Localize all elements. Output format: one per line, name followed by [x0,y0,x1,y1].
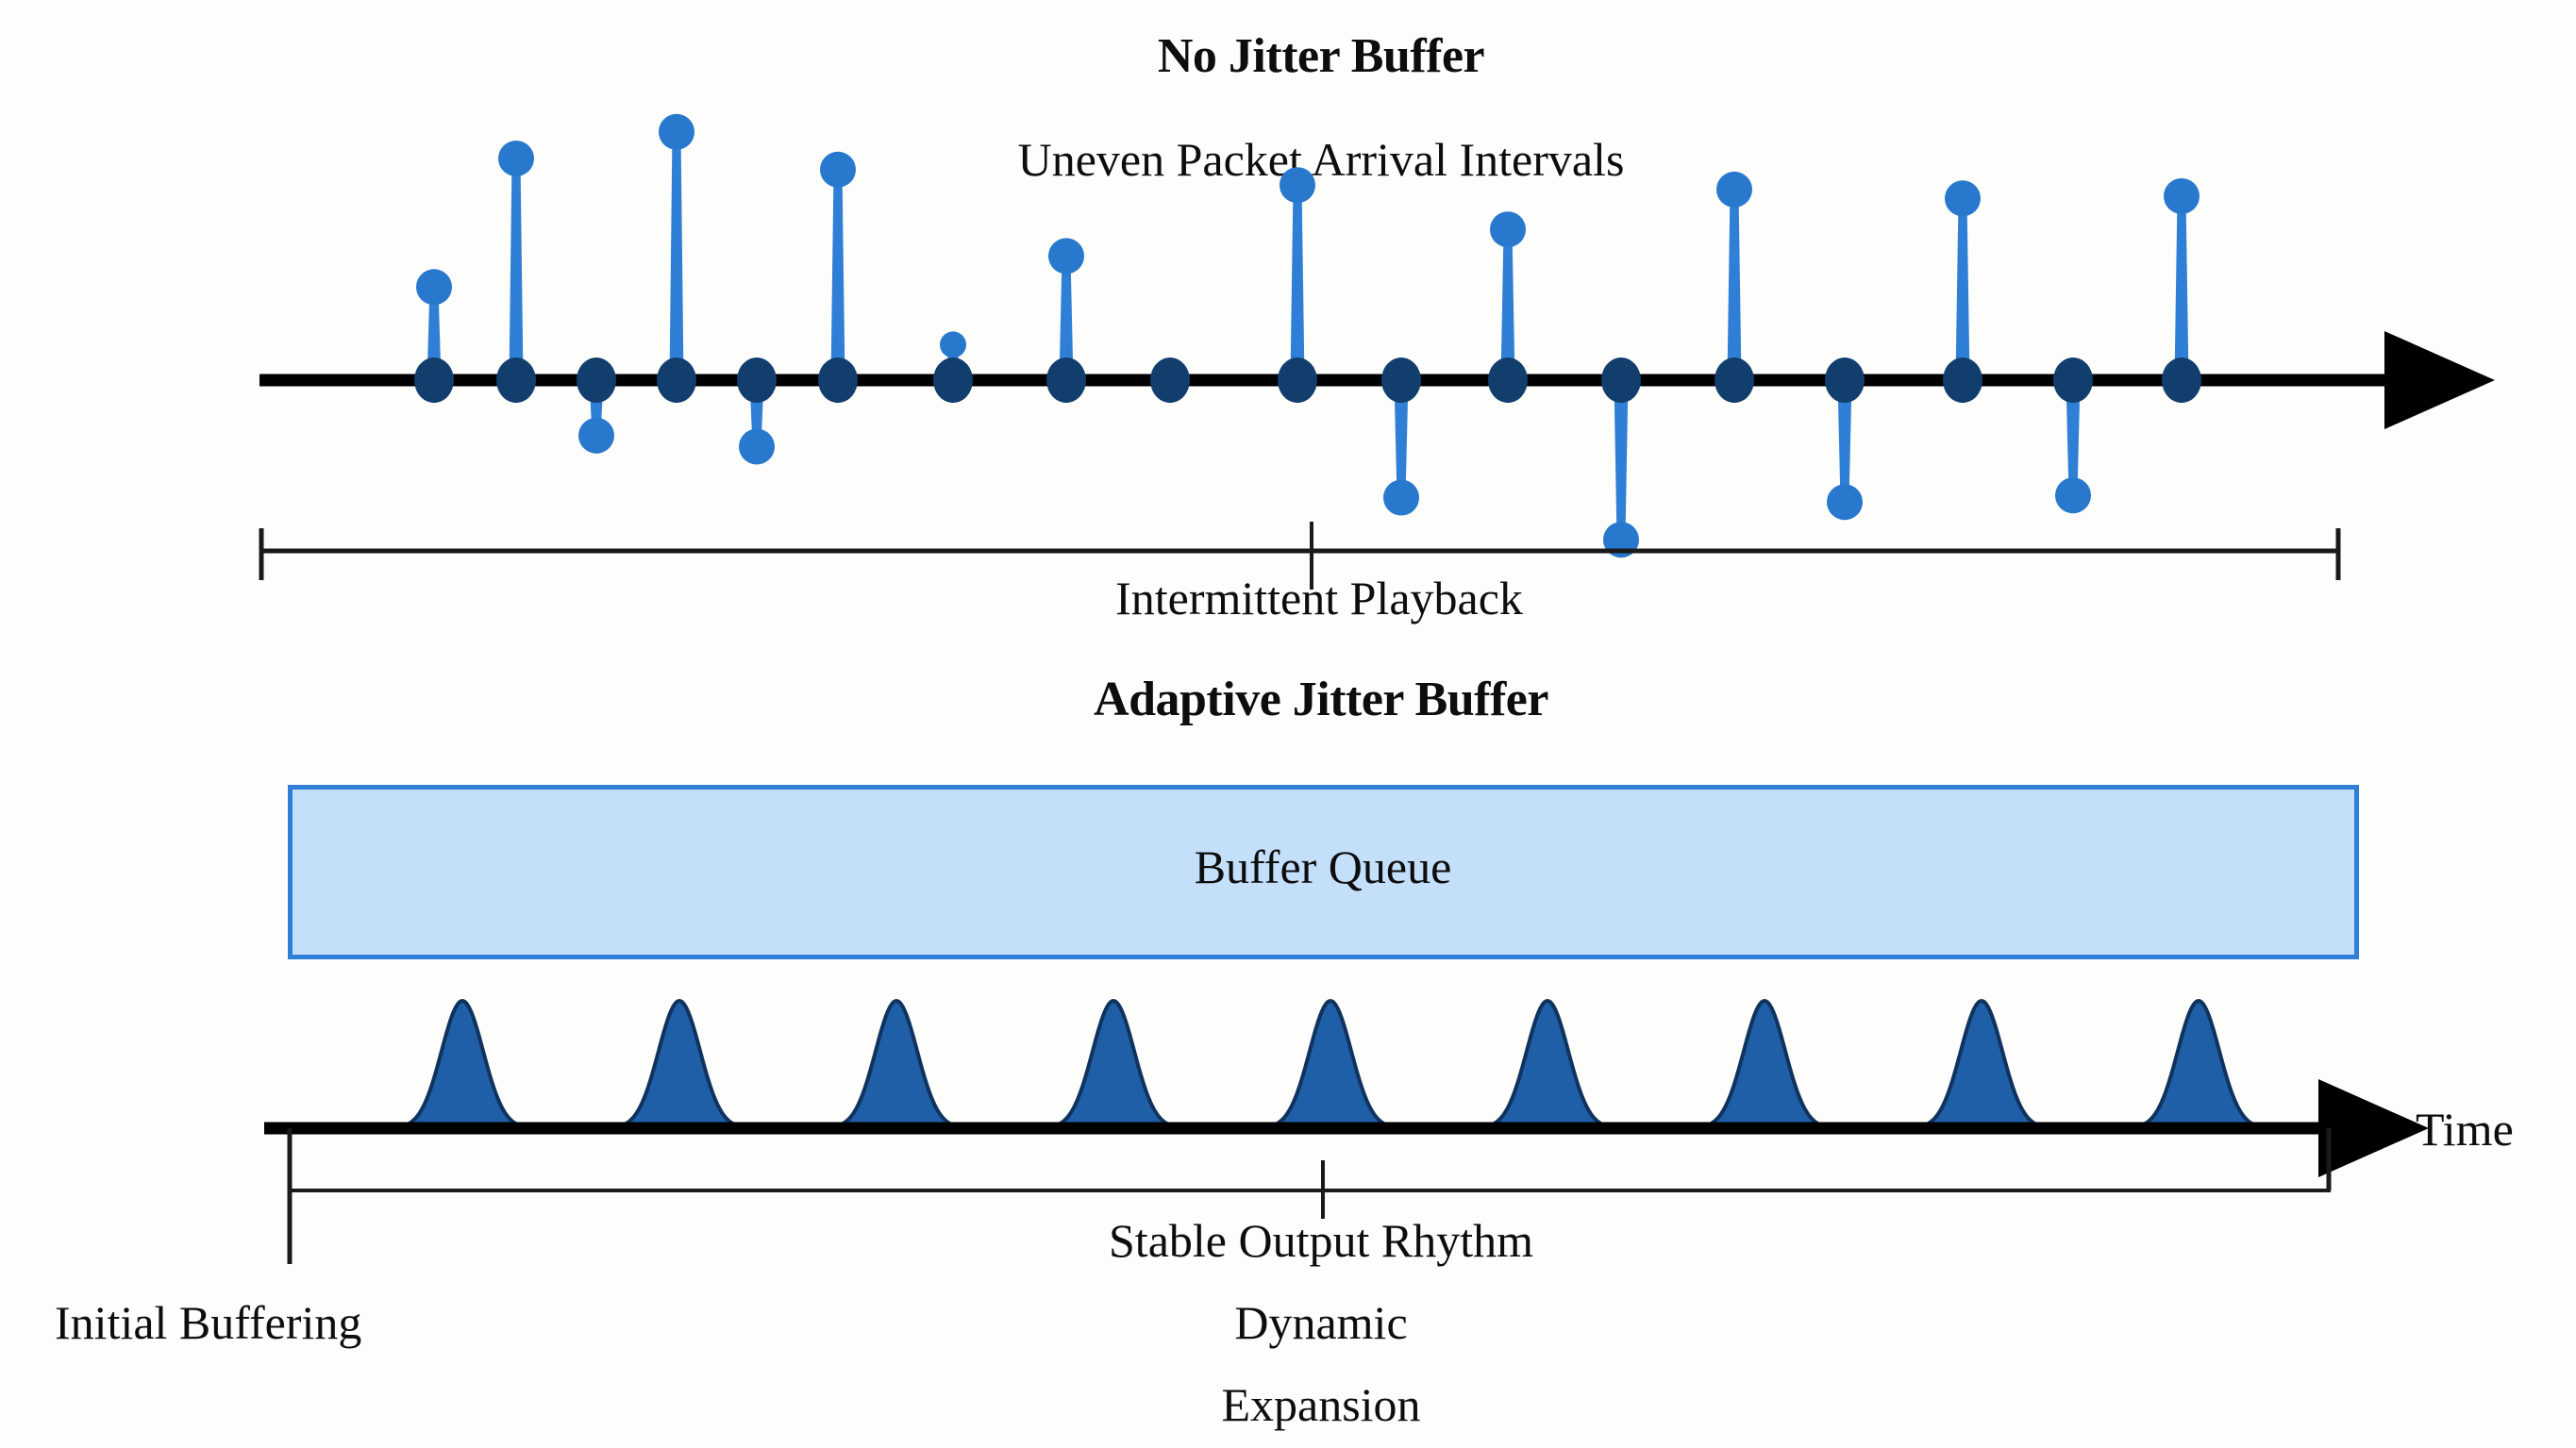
playback-pulse [1439,1001,1656,1128]
label-expansion: Expansion [1221,1377,1420,1432]
diagram-canvas: No Jitter Buffer Uneven Packet Arrival I… [0,0,2576,1448]
playback-pulse [354,1001,571,1128]
playback-pulse [788,1001,1005,1128]
axis-label-time: Time [2416,1102,2514,1157]
playback-pulse [1005,1001,1222,1128]
playback-pulse [571,1001,788,1128]
playback-pulse [1873,1001,2090,1128]
playback-pulse-group [354,1001,2307,1128]
playback-pulse [2090,1001,2307,1128]
playback-pulse [1656,1001,1873,1128]
playback-pulse [1222,1001,1439,1128]
label-dynamic: Dynamic [1234,1295,1407,1350]
label-initial-buffering: Initial Buffering [55,1295,361,1350]
bracket-label-stable-output-rhythm: Stable Output Rhythm [1109,1213,1533,1268]
